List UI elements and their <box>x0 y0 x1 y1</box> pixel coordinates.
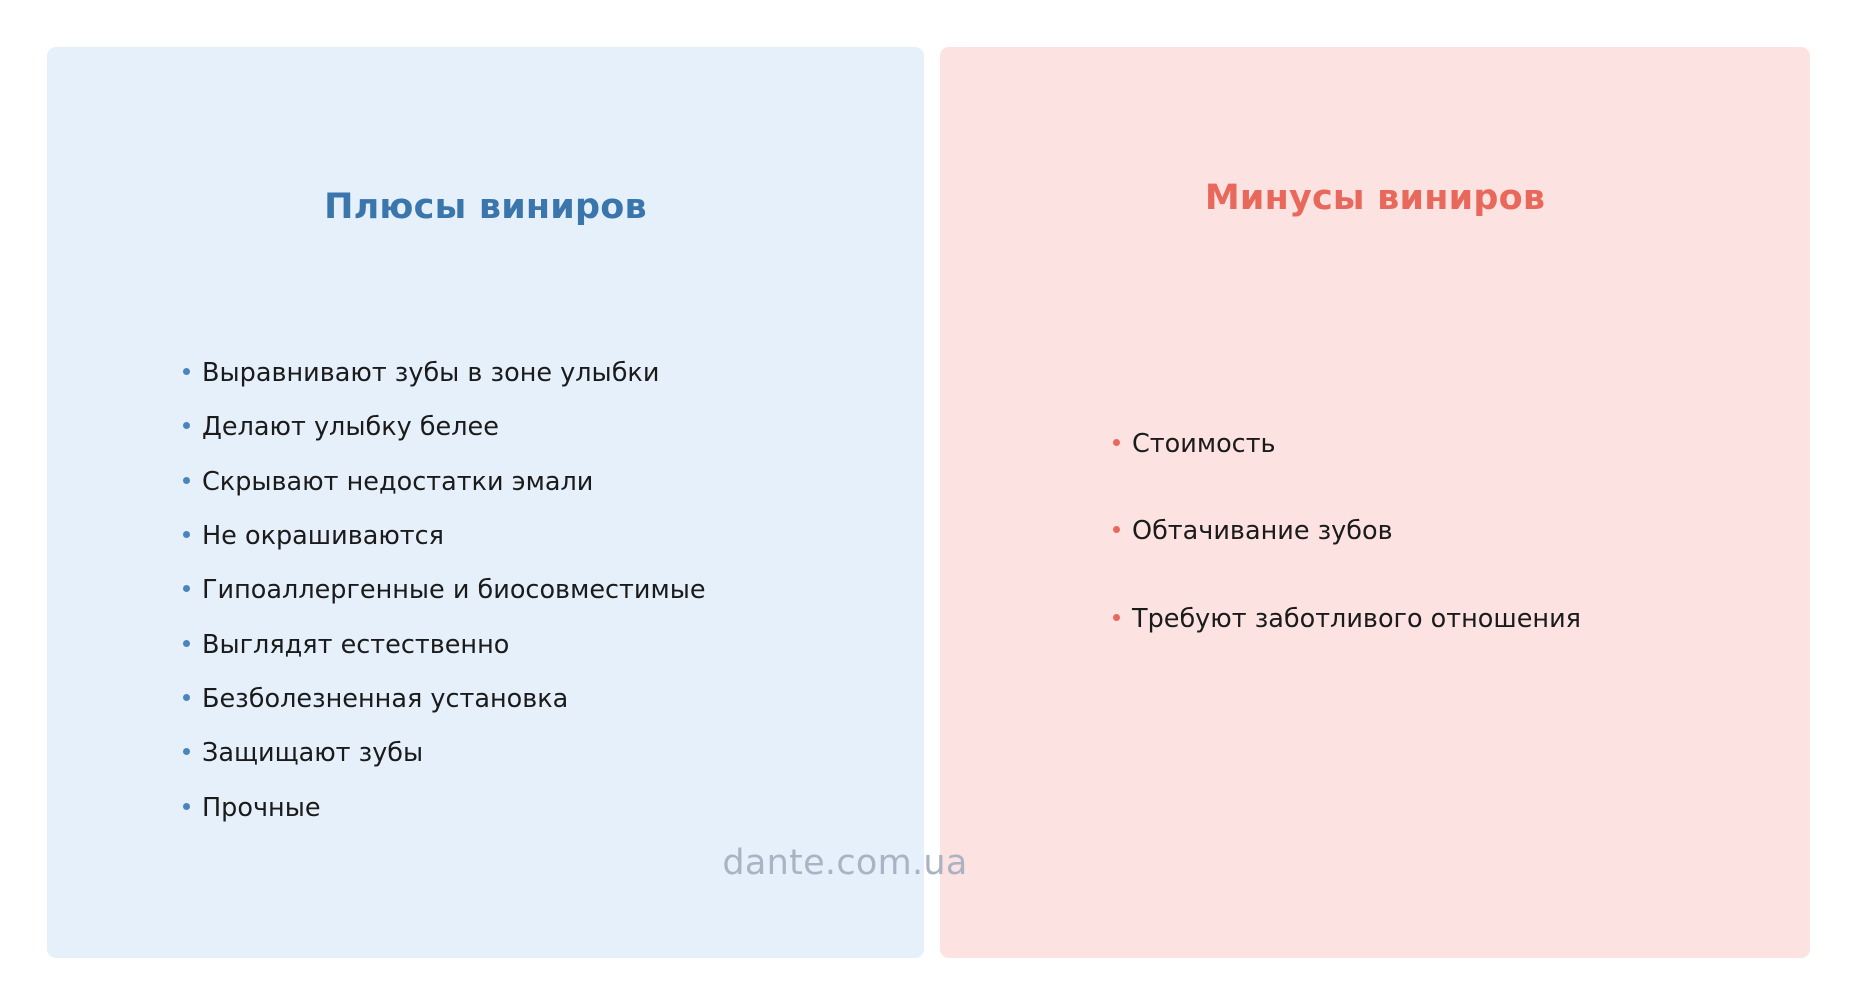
list-item: Не окрашиваются <box>183 522 903 551</box>
bullet-dot-icon <box>183 585 190 592</box>
bullet-dot-icon <box>183 477 190 484</box>
list-item-label: Не окрашиваются <box>202 522 444 551</box>
list-item-label: Стоимость <box>1132 430 1276 459</box>
cons-panel: Минусы виниров Стоимость Обтачивание зуб… <box>940 47 1810 958</box>
bullet-dot-icon <box>183 748 190 755</box>
list-item: Стоимость <box>1113 430 1773 459</box>
list-item: Делают улыбку белее <box>183 413 903 442</box>
comparison-slide: Плюсы виниров Выравнивают зубы в зоне ул… <box>0 0 1856 1004</box>
list-item-label: Безболезненная установка <box>202 685 568 714</box>
list-item-label: Скрывают недостатки эмали <box>202 468 593 497</box>
list-item-label: Обтачивание зубов <box>1132 517 1393 546</box>
bullet-dot-icon <box>183 422 190 429</box>
list-item: Безболезненная установка <box>183 685 903 714</box>
bullet-dot-icon <box>183 640 190 647</box>
pros-bullet-list: Выравнивают зубы в зоне улыбки Делают ул… <box>183 359 903 848</box>
list-item: Выравнивают зубы в зоне улыбки <box>183 359 903 388</box>
list-item-label: Делают улыбку белее <box>202 413 499 442</box>
pros-panel: Плюсы виниров Выравнивают зубы в зоне ул… <box>47 47 924 958</box>
list-item-label: Прочные <box>202 794 321 823</box>
list-item: Защищают зубы <box>183 739 903 768</box>
list-item: Обтачивание зубов <box>1113 517 1773 546</box>
bullet-dot-icon <box>1113 439 1120 446</box>
bullet-dot-icon <box>1113 526 1120 533</box>
bullet-dot-icon <box>183 531 190 538</box>
list-item-label: Требуют заботливого отношения <box>1132 605 1581 634</box>
cons-bullet-list: Стоимость Обтачивание зубов Требуют забо… <box>1113 430 1773 692</box>
list-item: Требуют заботливого отношения <box>1113 605 1773 634</box>
bullet-dot-icon <box>1113 614 1120 621</box>
list-item: Гипоаллергенные и биосовместимые <box>183 576 903 605</box>
list-item-label: Выглядят естественно <box>202 631 509 660</box>
bullet-dot-icon <box>183 368 190 375</box>
list-item: Прочные <box>183 794 903 823</box>
list-item: Выглядят естественно <box>183 631 903 660</box>
list-item: Скрывают недостатки эмали <box>183 468 903 497</box>
cons-panel-title: Минусы виниров <box>940 179 1810 218</box>
bullet-dot-icon <box>183 803 190 810</box>
bullet-dot-icon <box>183 694 190 701</box>
list-item-label: Защищают зубы <box>202 739 423 768</box>
pros-panel-title: Плюсы виниров <box>47 188 924 227</box>
list-item-label: Гипоаллергенные и биосовместимые <box>202 576 706 605</box>
list-item-label: Выравнивают зубы в зоне улыбки <box>202 359 659 388</box>
